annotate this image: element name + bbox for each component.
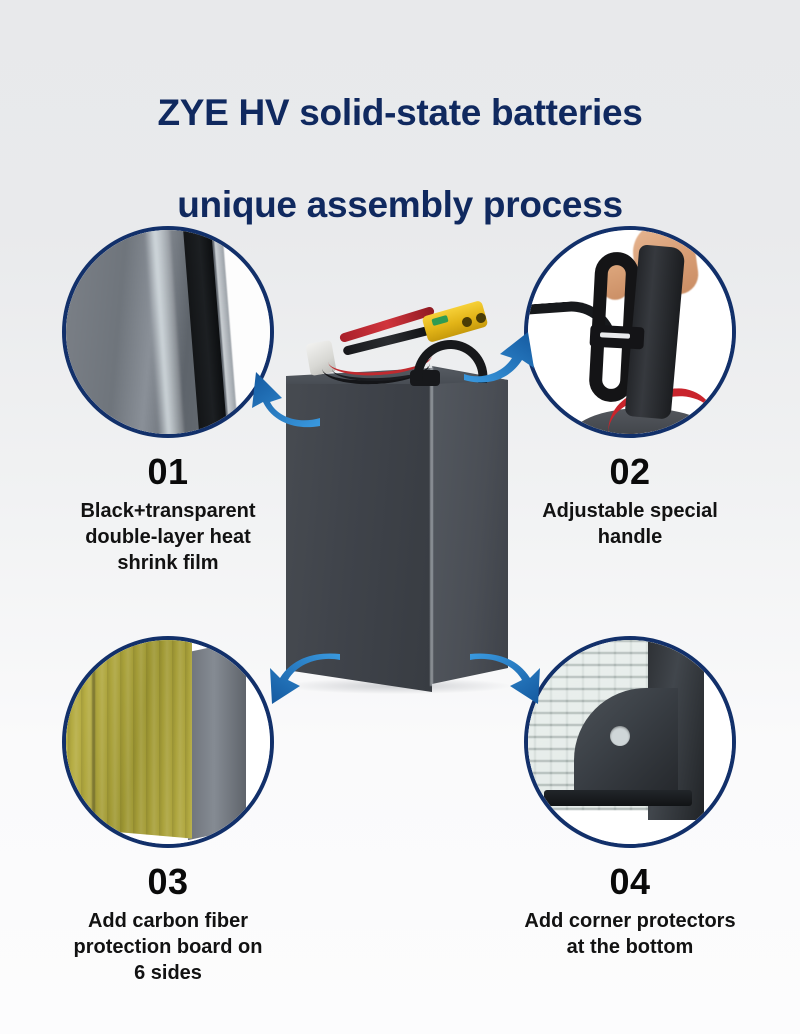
photo-heat-shrink-film [66, 230, 270, 434]
step-caption-04: Add corner protectors at the bottom [500, 908, 760, 960]
step-caption-02: Adjustable special handle [500, 498, 760, 550]
step-number-02: 02 [500, 452, 760, 492]
photo-handle-strap [528, 230, 732, 434]
callout-ring-01 [62, 226, 274, 438]
callout-ring-02 [524, 226, 736, 438]
battery-side-face [432, 366, 508, 684]
callout-circle-02 [524, 226, 736, 438]
step-label-02: 02 Adjustable special handle [500, 452, 760, 550]
step-label-01: 01 Black+transparent double-layer heat s… [38, 452, 298, 576]
step-label-04: 04 Add corner protectors at the bottom [500, 862, 760, 960]
step-label-03: 03 Add carbon fiber protection board on … [38, 862, 298, 986]
photo-corner-protector [528, 640, 732, 844]
callout-circle-04 [524, 636, 736, 848]
title-line-1: ZYE HV solid-state batteries [0, 90, 800, 136]
callout-ring-03 [62, 636, 274, 848]
callout-circle-01 [62, 226, 274, 438]
arrow-to-callout-03 [266, 652, 344, 710]
step-number-01: 01 [38, 452, 298, 492]
infographic-page: ZYE HV solid-state batteries unique asse… [0, 0, 800, 1034]
title-line-2: unique assembly process [0, 182, 800, 228]
arrow-to-callout-01 [248, 368, 322, 430]
callout-ring-04 [524, 636, 736, 848]
step-number-03: 03 [38, 862, 298, 902]
arrow-to-callout-02 [462, 330, 540, 384]
step-number-04: 04 [500, 862, 760, 902]
photo-carbon-fiber-board [66, 640, 270, 844]
arrow-to-callout-04 [466, 652, 544, 710]
step-caption-01: Black+transparent double-layer heat shri… [38, 498, 298, 576]
callout-circle-03 [62, 636, 274, 848]
step-caption-03: Add carbon fiber protection board on 6 s… [38, 908, 298, 986]
